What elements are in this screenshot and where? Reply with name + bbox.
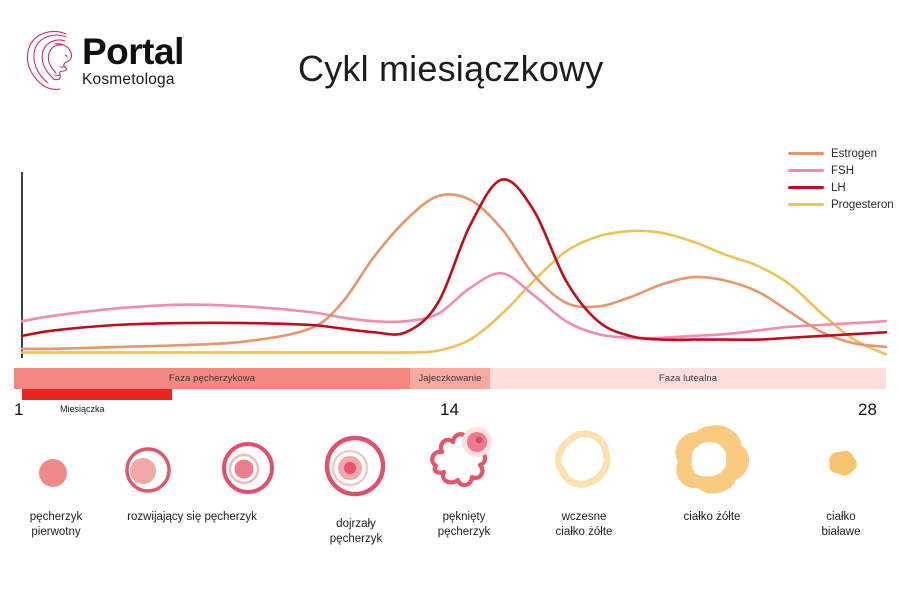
legend-swatch-progesteron [788,203,824,206]
legend-swatch-lh [788,186,824,189]
stage-caption-corpus-albicans: ciałko białawe [800,510,882,539]
menstruation-label: Miesiączka [60,404,105,414]
follicle-stage-row [0,418,900,518]
follicle-early-corpus-luteum [540,418,624,508]
phase-segment-luteal: Faza lutealna [490,368,886,389]
brand-logo: Portal Kosmetologa [22,26,184,92]
day-tick-1: 1 [14,400,23,420]
legend-swatch-estrogen [788,152,824,155]
legend-label-estrogen: Estrogen [831,148,877,160]
curve-fsh [22,273,886,338]
menstruation-bar [22,389,172,400]
legend-item-lh: LH [788,179,900,196]
legend-item-estrogen: Estrogen [788,145,900,162]
legend-label-fsh: FSH [831,165,854,177]
stage-caption-early-corpus-luteum: wczesne ciałko żółte [532,510,636,539]
cycle-phase-bar: Faza pęcherzykowa Jajeczkowanie Faza lut… [14,368,886,389]
phase-segment-ovulation: Jajeczkowanie [410,368,490,389]
stage-caption-developing-follicle: rozwijający się pęcherzyk [104,510,280,525]
follicle-ruptured-follicle [420,418,510,508]
legend-item-fsh: FSH [788,162,900,179]
legend-item-progesteron: Progesteron [788,196,900,213]
day-tick-28: 28 [858,400,877,420]
follicle-mature-follicle [312,418,398,508]
brand-title: Portal [82,34,184,69]
curve-lh [22,179,886,340]
page-title: Cykl miesiączkowy [298,48,603,90]
hormone-chart [0,130,900,370]
woman-face-logo-icon [22,26,78,92]
phase-segment-follicular: Faza pęcherzykowa [14,368,410,389]
stage-caption-mature-follicle: dojrzały pęcherzyk [306,517,406,546]
follicle-developing-follicle [112,418,184,508]
brand-wordmark: Portal Kosmetologa [82,26,184,89]
follicle-corpus-albicans [810,418,870,508]
legend-swatch-fsh [788,169,824,172]
follicle-primary-follicle [22,418,84,508]
chart-legend: Estrogen FSH LH Progesteron [788,145,900,213]
stage-caption-corpus-luteum: ciałko żółte [656,510,768,525]
follicle-developing-follicle-2 [208,418,288,508]
brand-subtitle: Kosmetologa [82,71,184,89]
legend-label-progesteron: Progesteron [831,199,894,211]
follicle-corpus-luteum [660,418,760,508]
stage-caption-primary-follicle: pęcherzyk pierwotny [8,510,104,539]
curve-progesteron [22,231,886,355]
infographic-page: Portal Kosmetologa Cykl miesiączkowy Est… [0,0,900,600]
day-tick-14: 14 [440,400,459,420]
legend-label-lh: LH [831,182,846,194]
curve-estrogen [22,194,886,349]
stage-caption-ruptured-follicle: pęknięty pęcherzyk [414,510,514,539]
